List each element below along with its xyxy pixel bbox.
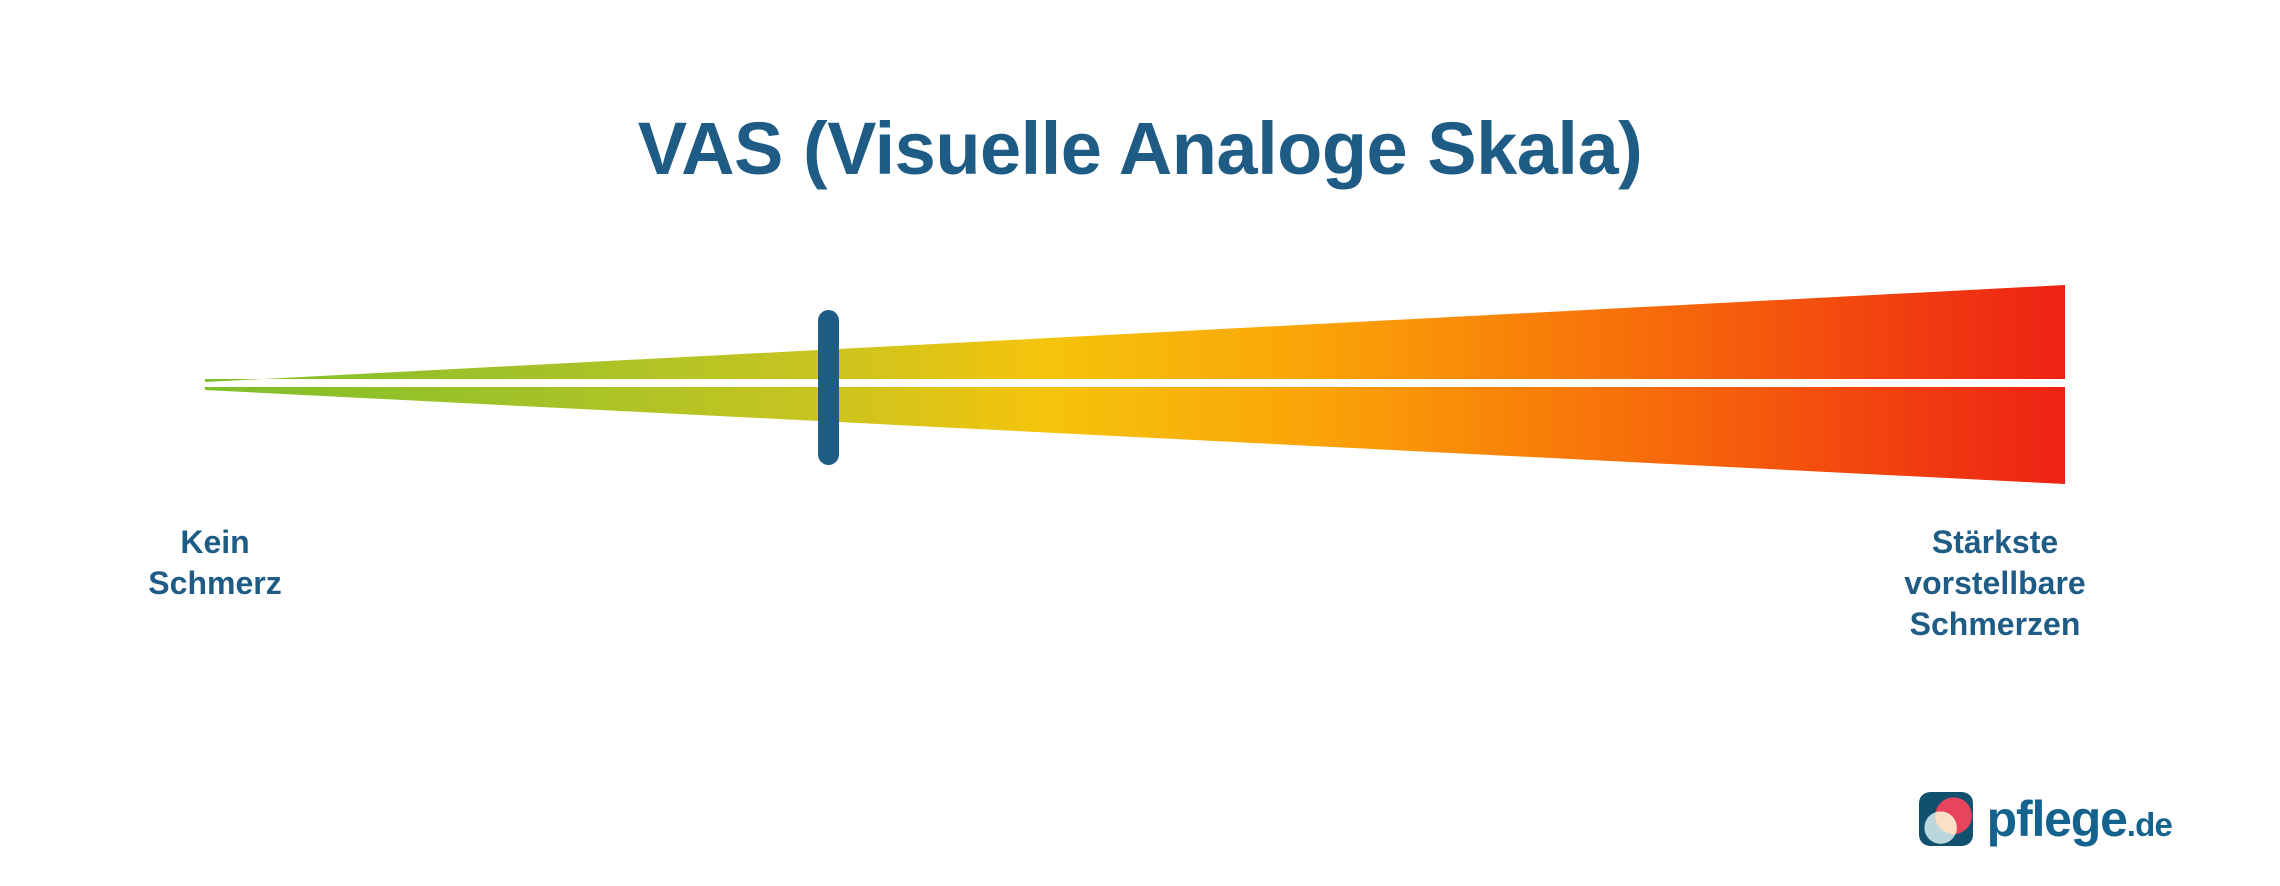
wedge-lower: [205, 387, 2065, 484]
pflege-de-logo[interactable]: pflege .de: [1919, 792, 2172, 846]
pflege-logo-mark-icon: [1919, 792, 1973, 846]
scale-label-left-line-1: Kein: [110, 522, 320, 563]
scale-label-right-line-1: Stärkste: [1825, 522, 2165, 563]
vas-infographic: VAS (Visuelle Analoge Skala): [0, 0, 2280, 886]
scale-label-right: Stärkste vorstellbare Schmerzen: [1825, 522, 2165, 645]
scale-label-left-line-2: Schmerz: [110, 563, 320, 604]
logo-word-main: pflege: [1987, 794, 2127, 844]
page-title: VAS (Visuelle Analoge Skala): [0, 112, 2280, 186]
logo-word-tld: .de: [2127, 808, 2172, 841]
logo-wordmark: pflege .de: [1987, 794, 2172, 844]
scale-label-right-line-3: Schmerzen: [1825, 604, 2165, 645]
vas-slider-marker[interactable]: [818, 310, 839, 465]
scale-label-left: Kein Schmerz: [110, 522, 320, 604]
scale-label-right-line-2: vorstellbare: [1825, 563, 2165, 604]
wedge-upper: [205, 285, 2065, 382]
